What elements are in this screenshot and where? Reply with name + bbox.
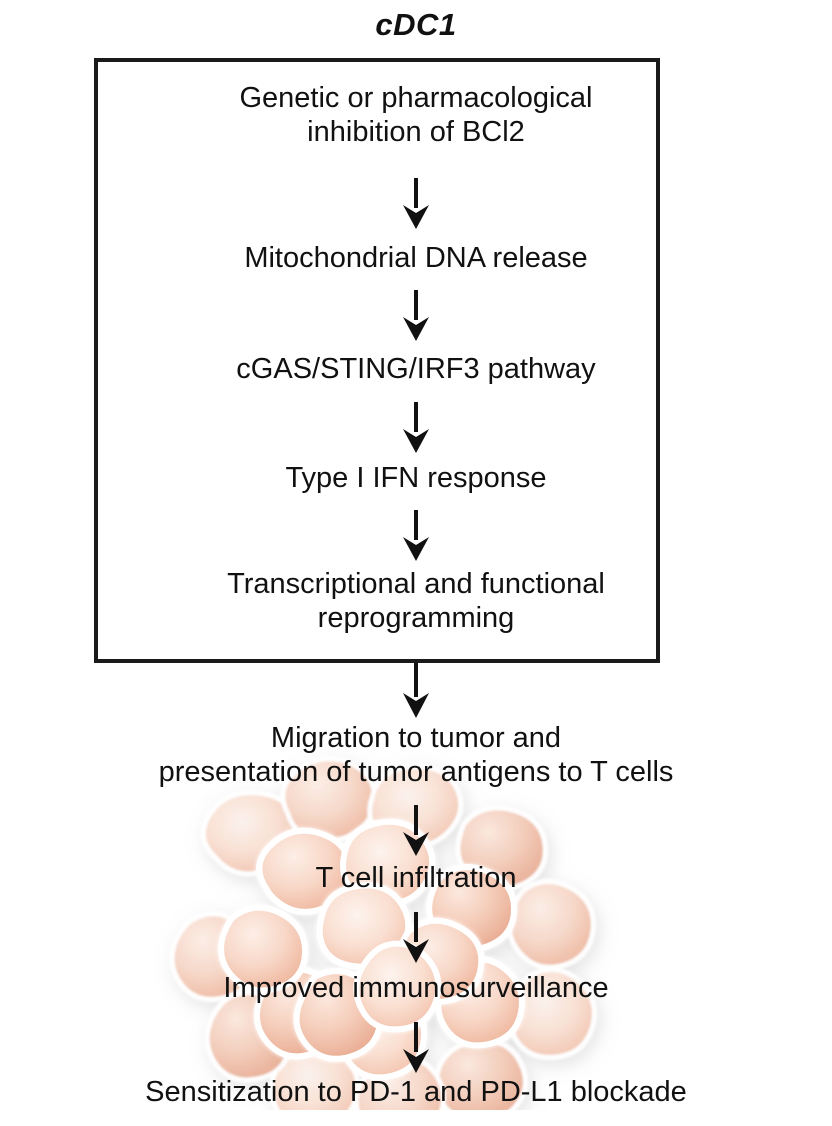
downward-arrow-4 <box>0 510 832 562</box>
figure-canvas: cDC1 <box>0 0 832 1126</box>
downward-arrow-5 <box>0 663 832 719</box>
step-bcl2-inhibition: Genetic or pharmacological inhibition of… <box>0 82 832 149</box>
step-pd1-pdl1-sensitization: Sensitization to PD-1 and PD-L1 blockade <box>0 1076 832 1110</box>
downward-arrow-2 <box>0 290 832 342</box>
step-cgas-sting-irf3: cGAS/STING/IRF3 pathway <box>0 353 832 387</box>
step-type-i-ifn: Type I IFN response <box>0 462 832 496</box>
downward-arrow-6 <box>0 805 832 857</box>
step-migration-presentation: Migration to tumor and presentation of t… <box>0 722 832 789</box>
page-title: cDC1 <box>0 8 832 42</box>
step-immunosurveillance: Improved immunosurveillance <box>0 972 832 1006</box>
downward-arrow-3 <box>0 402 832 454</box>
step-t-cell-infiltration: T cell infiltration <box>0 862 832 896</box>
downward-arrow-7 <box>0 912 832 964</box>
step-mtdna-release: Mitochondrial DNA release <box>0 242 832 276</box>
step-reprogramming: Transcriptional and functional reprogram… <box>0 568 832 635</box>
downward-arrow-1 <box>0 178 832 230</box>
downward-arrow-8 <box>0 1022 832 1074</box>
